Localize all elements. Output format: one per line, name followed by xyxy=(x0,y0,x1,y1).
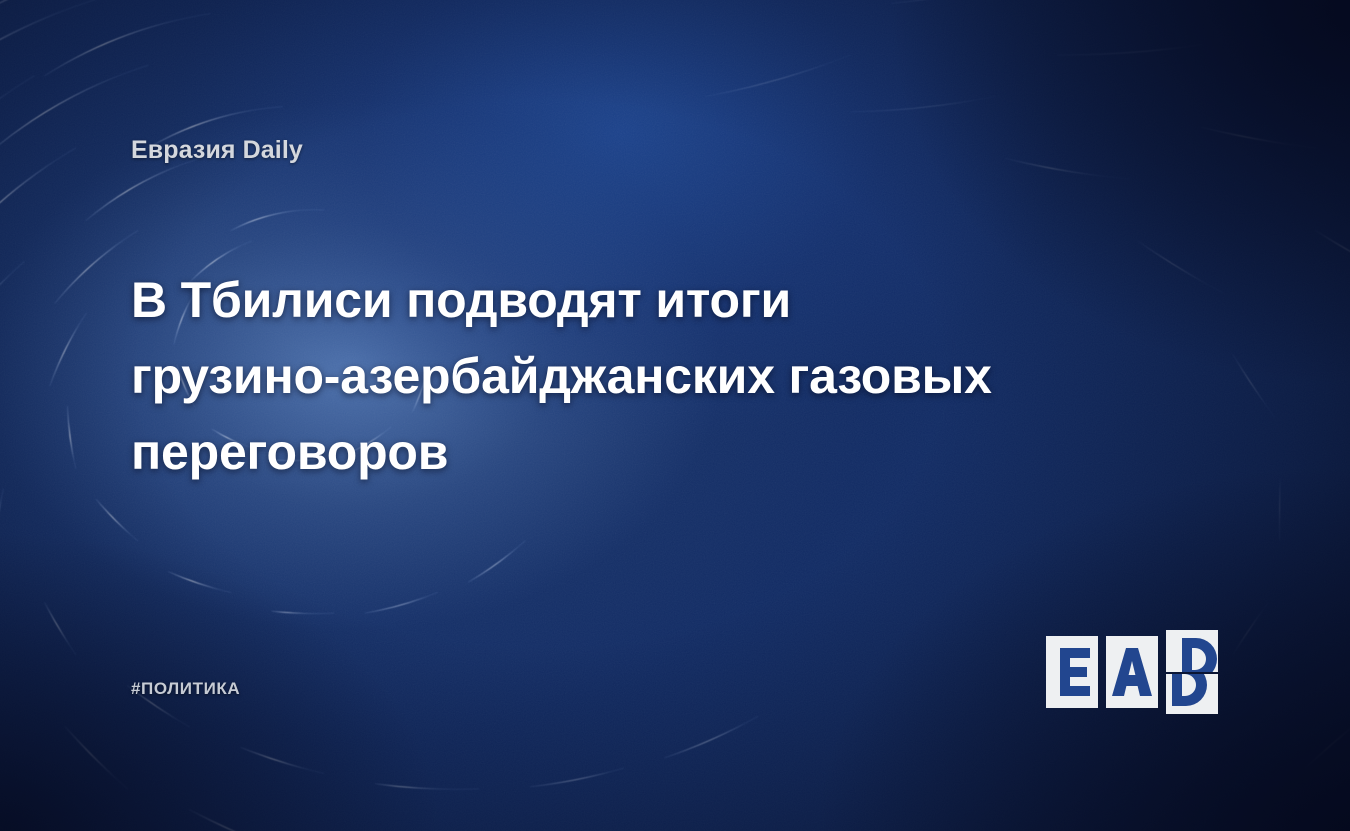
logo-tile-d-split xyxy=(1166,630,1218,714)
news-card: Евразия Daily В Тбилиси подводят итоги г… xyxy=(0,0,1350,831)
logo-tile-a xyxy=(1106,636,1158,708)
page-title: В Тбилиси подводят итоги грузино-азербай… xyxy=(131,262,1121,490)
headline-line-1: В Тбилиси подводят итоги xyxy=(131,272,791,328)
ead-logo-svg xyxy=(1044,624,1226,720)
headline-line-3: переговоров xyxy=(131,424,448,480)
headline-line-2: грузино-азербайджанских газовых xyxy=(131,348,992,404)
category-tag[interactable]: #ПОЛИТИКА xyxy=(131,679,240,699)
ead-logo[interactable] xyxy=(1044,624,1226,720)
logo-tile-e xyxy=(1046,636,1098,708)
brand-name: Евразия Daily xyxy=(131,136,303,165)
